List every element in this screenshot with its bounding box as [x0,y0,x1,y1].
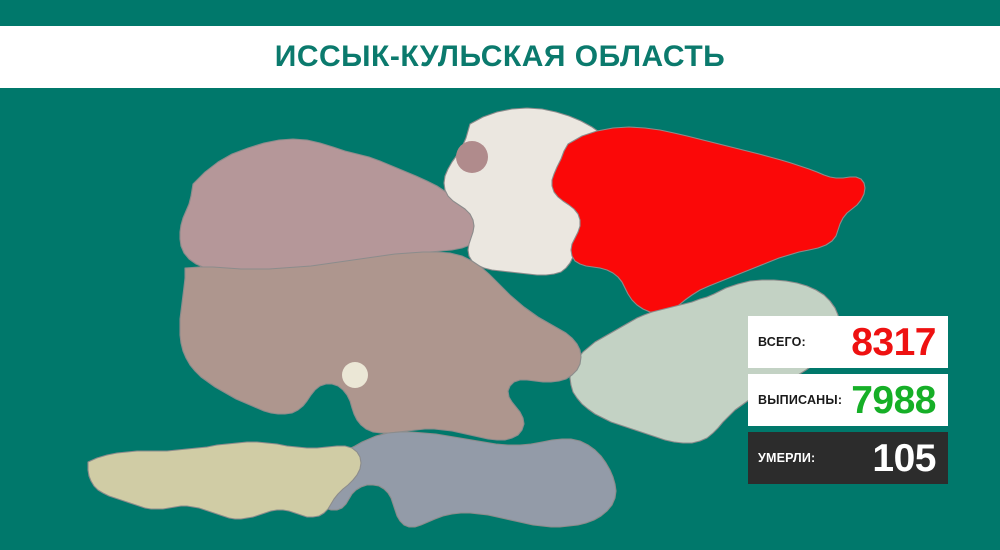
stat-label-total: ВСЕГО: [758,335,806,349]
stat-label-deaths: УМЕРЛИ: [758,451,815,465]
stat-row-recovered: ВЫПИСАНЫ: 7988 [748,374,948,426]
infographic-canvas: ИССЫК-КУЛЬСКАЯ ОБЛАСТЬ [0,0,1000,550]
page-title: ИССЫК-КУЛЬСКАЯ ОБЛАСТЬ [275,40,725,74]
stat-label-recovered: ВЫПИСАНЫ: [758,393,842,407]
top-accent-bar [0,0,1000,26]
osh-city-marker[interactable] [342,362,368,388]
bishkek-marker[interactable] [456,141,488,173]
stat-value-recovered: 7988 [851,381,936,420]
stat-row-total: ВСЕГО: 8317 [748,316,948,368]
stat-value-deaths: 105 [872,439,936,478]
stat-value-total: 8317 [851,323,936,362]
stat-row-deaths: УМЕРЛИ: 105 [748,432,948,484]
statistics-panel: ВСЕГО: 8317 ВЫПИСАНЫ: 7988 УМЕРЛИ: 105 [748,316,948,484]
title-banner: ИССЫК-КУЛЬСКАЯ ОБЛАСТЬ [0,26,1000,88]
